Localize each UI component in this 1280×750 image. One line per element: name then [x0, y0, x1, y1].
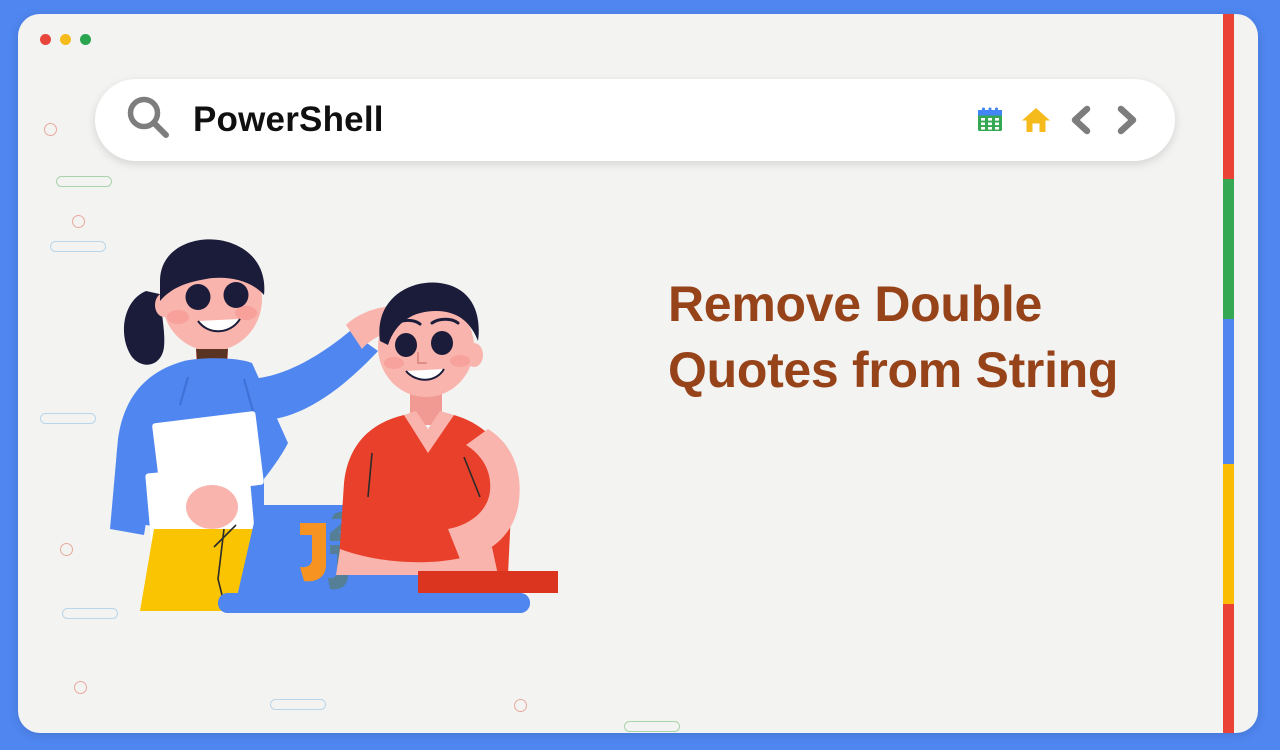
- color-stripe-segment-2: [1223, 319, 1234, 464]
- search-bar[interactable]: PowerShell: [95, 79, 1175, 161]
- decorative-pill-5: [624, 721, 680, 732]
- close-button[interactable]: [40, 34, 51, 45]
- color-stripe-segment-0: [1223, 14, 1234, 179]
- decorative-circle-3: [74, 681, 87, 694]
- color-stripe-segment-4: [1223, 604, 1234, 733]
- page-title: Remove Double Quotes from String: [668, 272, 1148, 403]
- home-icon[interactable]: [1019, 103, 1053, 137]
- maximize-button[interactable]: [80, 34, 91, 45]
- chevron-right-icon[interactable]: [1111, 103, 1141, 137]
- decorative-circle-1: [72, 215, 85, 228]
- window-controls: [40, 34, 91, 45]
- decorative-pill-4: [270, 699, 326, 710]
- decorative-pill-0: [56, 176, 112, 187]
- search-bar-actions: [975, 103, 1141, 137]
- hero-illustration: [88, 229, 668, 619]
- color-stripe-segment-1: [1223, 179, 1234, 319]
- decorative-circle-0: [44, 123, 57, 136]
- browser-window-card: PowerShell: [18, 14, 1258, 733]
- color-stripe-segment-3: [1223, 464, 1234, 604]
- search-icon: [123, 92, 175, 149]
- decorative-circle-4: [514, 699, 527, 712]
- minimize-button[interactable]: [60, 34, 71, 45]
- google-color-stripe: [1223, 14, 1234, 733]
- search-input-value[interactable]: PowerShell: [193, 100, 384, 140]
- calendar-icon[interactable]: [975, 105, 1005, 135]
- decorative-circle-2: [60, 543, 73, 556]
- chevron-left-icon[interactable]: [1067, 103, 1097, 137]
